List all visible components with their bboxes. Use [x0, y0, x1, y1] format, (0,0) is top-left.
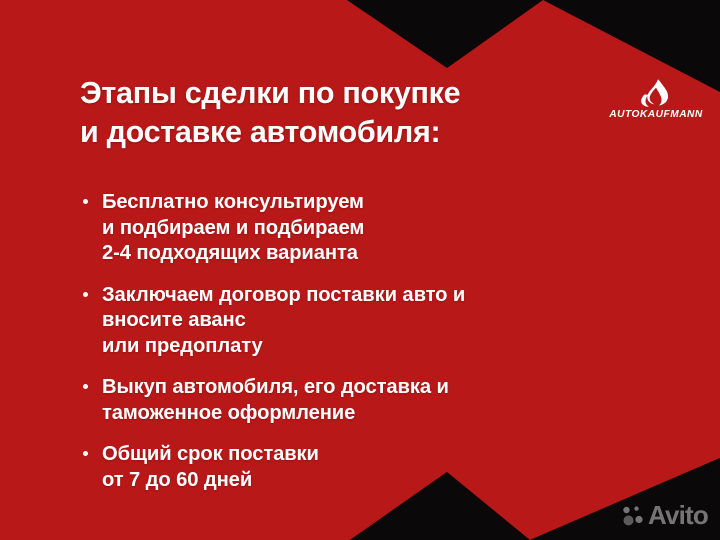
list-item-line: Выкуп автомобиля, его доставка и — [102, 375, 640, 401]
brand-logo: AUTOKAUFMANN — [604, 78, 708, 120]
list-item-line: от 7 до 60 дней — [102, 468, 640, 494]
page-title: Этапы сделки по покупке и доставке автом… — [80, 74, 610, 152]
list-item: Общий срок поставки от 7 до 60 дней — [80, 442, 640, 493]
bullet-dot-icon — [83, 199, 88, 204]
list-item-line: вносите аванс — [102, 308, 640, 334]
list-item: Выкуп автомобиля, его доставка и таможен… — [80, 375, 640, 426]
avito-watermark: Avito — [622, 502, 708, 528]
avito-dots-icon — [622, 505, 644, 526]
list-item-line: Заключаем договор поставки авто и — [102, 283, 640, 309]
bullet-dot-icon — [83, 451, 88, 456]
promo-slide: Этапы сделки по покупке и доставке автом… — [0, 0, 720, 540]
avito-label: Avito — [648, 502, 708, 528]
list-item-line: 2-4 подходящих варианта — [102, 241, 640, 267]
flame-horse-logo-icon — [639, 78, 673, 108]
list-item-line: Бесплатно консультируем — [102, 190, 640, 216]
stages-list: Бесплатно консультируем и подбираем и по… — [80, 190, 640, 493]
list-item: Бесплатно консультируем и подбираем и по… — [80, 190, 640, 267]
list-item-line: и подбираем и подбираем — [102, 216, 640, 242]
bullet-dot-icon — [83, 384, 88, 389]
list-item-line: или предоплату — [102, 334, 640, 360]
list-item-line: таможенное оформление — [102, 401, 640, 427]
bullet-dot-icon — [83, 292, 88, 297]
logo-wordmark: AUTOKAUFMANN — [604, 109, 708, 120]
title-line-1: Этапы сделки по покупке — [80, 74, 610, 113]
list-item: Заключаем договор поставки авто и вносит… — [80, 283, 640, 360]
title-line-2: и доставке автомобиля: — [80, 113, 610, 152]
list-item-line: Общий срок поставки — [102, 442, 640, 468]
